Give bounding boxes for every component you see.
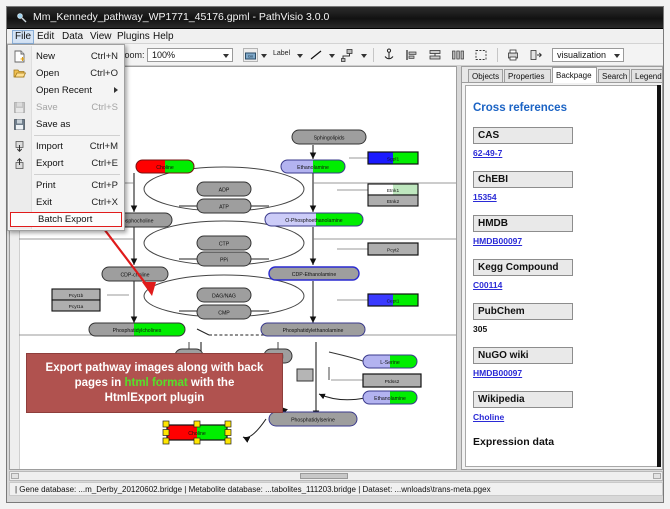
import-icon — [13, 140, 26, 153]
menu-separator-2 — [34, 174, 120, 175]
side-panel-tabs: Objects Properties Backpage Search Legen… — [462, 67, 662, 83]
callout-line2-a: pages in — [75, 377, 125, 389]
expression-data-heading: Expression data — [473, 436, 653, 448]
svg-text:Phosphatidylserine: Phosphatidylserine — [291, 418, 335, 424]
svg-text:Cept1: Cept1 — [387, 299, 400, 305]
svg-text:O-Phosphoethanolamine: O-Phosphoethanolamine — [285, 218, 343, 224]
pathvisio-icon — [16, 12, 28, 24]
svg-text:Choline: Choline — [156, 165, 174, 171]
distribute-icon[interactable] — [451, 48, 465, 62]
datanode-dropdown-arrow[interactable] — [261, 54, 267, 58]
interaction-icon[interactable] — [341, 48, 355, 62]
label-tool-label[interactable]: Label — [273, 50, 290, 57]
properties-icon[interactable] — [529, 48, 543, 62]
new-document-icon — [13, 50, 26, 63]
xref-value-pubchem: 305 — [473, 324, 653, 334]
svg-text:DAG/NAG: DAG/NAG — [212, 294, 236, 300]
menu-item-new-accel: Ctrl+N — [91, 48, 118, 65]
menu-view[interactable]: View — [87, 31, 115, 43]
xref-label-chebi: ChEBI — [473, 171, 573, 188]
svg-text:CTP: CTP — [219, 242, 230, 248]
menu-item-import-accel: Ctrl+M — [90, 138, 118, 155]
tab-backpage[interactable]: Backpage — [552, 67, 597, 83]
tab-properties[interactable]: Properties — [504, 69, 551, 82]
interaction-dropdown-arrow[interactable] — [361, 54, 367, 58]
svg-text:Ethanolamine: Ethanolamine — [297, 165, 329, 171]
visualization-value: visualization — [557, 50, 606, 60]
chevron-right-icon — [114, 87, 118, 93]
xref-label-nugo-wiki: NuGO wiki — [473, 347, 573, 364]
menu-item-export[interactable]: Export Ctrl+E — [8, 155, 124, 172]
xref-value-nugo-wiki[interactable]: HMDB00097 — [473, 368, 653, 378]
svg-text:Ethanolamine: Ethanolamine — [374, 396, 406, 402]
callout-line1: Export pathway images along with back — [46, 362, 264, 374]
svg-text:CDP-Ethanolamine: CDP-Ethanolamine — [292, 272, 337, 278]
menu-item-save-accel: Ctrl+S — [91, 99, 118, 116]
visualization-combo[interactable]: visualization — [552, 48, 624, 62]
menu-edit[interactable]: Edit — [34, 31, 57, 43]
group-icon[interactable] — [474, 48, 488, 62]
menu-item-exit[interactable]: Exit Ctrl+X — [8, 194, 124, 211]
print-icon[interactable] — [506, 48, 520, 62]
status-text: | Gene database: ...m_Derby_20120602.bri… — [15, 485, 491, 494]
svg-text:Phosphatidylcholines: Phosphatidylcholines — [113, 328, 162, 334]
menu-item-open[interactable]: Open Ctrl+O — [8, 65, 124, 82]
svg-text:Etnk1: Etnk1 — [387, 188, 400, 194]
svg-text:L-Serine: L-Serine — [380, 360, 400, 366]
title-bar: Mm_Kennedy_pathway_WP1771_45176.gpml - P… — [7, 7, 663, 29]
xref-label-kegg-compound: Kegg Compound — [473, 259, 573, 276]
menu-bar: File Edit Data View Plugins Help — [7, 29, 663, 44]
menu-item-save: Save Ctrl+S — [8, 99, 124, 116]
menu-item-save-as-label: Save as — [36, 116, 70, 133]
menu-item-import[interactable]: Import Ctrl+M — [8, 138, 124, 155]
callout-highlight: html format — [124, 377, 187, 389]
svg-text:Pcyt1b: Pcyt1b — [69, 293, 84, 299]
side-panel-scrollbar[interactable] — [657, 85, 661, 467]
xref-label-cas: CAS — [473, 127, 573, 144]
menu-item-open-recent[interactable]: Open Recent — [8, 82, 124, 99]
window-title: Mm_Kennedy_pathway_WP1771_45176.gpml - P… — [33, 11, 329, 23]
menu-item-export-accel: Ctrl+E — [91, 155, 118, 172]
tab-objects[interactable]: Objects — [468, 69, 503, 82]
status-bar: | Gene database: ...m_Derby_20120602.bri… — [9, 482, 663, 496]
svg-text:ATP: ATP — [219, 205, 229, 211]
xref-label-hmdb: HMDB — [473, 215, 573, 232]
svg-text:CMP: CMP — [218, 311, 230, 317]
xref-label-pubchem: PubChem — [473, 303, 573, 320]
xref-value-kegg-compound[interactable]: C00114 — [473, 280, 653, 290]
anchor-icon[interactable] — [382, 48, 396, 62]
svg-text:CDP-choline: CDP-choline — [120, 273, 149, 279]
menu-item-print[interactable]: Print Ctrl+P — [8, 177, 124, 194]
svg-text:Choline: Choline — [188, 431, 206, 437]
menu-item-exit-label: Exit — [36, 194, 52, 211]
datanode-icon: Gn — [244, 50, 257, 62]
menu-item-exit-accel: Ctrl+X — [91, 194, 118, 211]
callout-line2-b: with the — [188, 377, 235, 389]
cross-references-heading: Cross references — [473, 102, 653, 114]
svg-text:Sgpl1: Sgpl1 — [387, 157, 400, 163]
menu-plugins[interactable]: Plugins — [114, 31, 153, 43]
tab-legend[interactable]: Legend — [631, 69, 663, 82]
label-dropdown-arrow[interactable] — [297, 54, 303, 58]
zoom-value: 100% — [152, 50, 175, 60]
menu-item-new[interactable]: New Ctrl+N — [8, 48, 124, 65]
svg-text:Gn: Gn — [248, 54, 253, 59]
menu-item-print-label: Print — [36, 177, 56, 194]
toolbar-separator-2 — [497, 48, 498, 62]
backpage-scroll-area[interactable]: Cross references CAS 62-49-7 ChEBI 15354… — [465, 85, 658, 467]
xref-value-chebi[interactable]: 15354 — [473, 192, 653, 202]
svg-text:Sphingolipids: Sphingolipids — [314, 136, 345, 142]
svg-text:Pcyt1a: Pcyt1a — [69, 304, 84, 310]
svg-text:Phosphatidylethanolamine: Phosphatidylethanolamine — [283, 328, 344, 334]
xref-label-wikipedia: Wikipedia — [473, 391, 573, 408]
menu-data[interactable]: Data — [59, 31, 86, 43]
chevron-down-icon-2 — [614, 54, 620, 58]
menu-item-save-label: Save — [36, 99, 58, 116]
scroll-thumb[interactable] — [300, 473, 348, 479]
side-panel: Objects Properties Backpage Search Legen… — [461, 66, 663, 470]
datanode-button[interactable]: Gn — [243, 48, 258, 62]
file-menu-dropdown[interactable]: New Ctrl+N Open Ctrl+O Open Recent Save … — [7, 44, 125, 231]
toolbar-separator — [373, 48, 374, 62]
svg-text:ADP: ADP — [219, 188, 230, 194]
menu-item-batch-export-label: Batch Export — [38, 212, 92, 227]
xref-value-wikipedia[interactable]: Choline — [473, 412, 653, 422]
horizontal-scrollbar[interactable] — [9, 471, 663, 481]
align-left-icon[interactable] — [405, 48, 419, 62]
line-icon[interactable] — [309, 48, 323, 62]
chevron-down-icon — [223, 54, 229, 58]
backpage-content: Cross references CAS 62-49-7 ChEBI 15354… — [473, 86, 653, 448]
zoom-combo[interactable]: 100% — [147, 48, 233, 62]
menu-item-batch-export[interactable]: Batch Export — [10, 212, 122, 227]
scroll-left-icon[interactable] — [11, 473, 19, 479]
tab-search[interactable]: Search — [598, 69, 630, 82]
svg-text:Pcyt2: Pcyt2 — [387, 248, 399, 254]
annotation-callout: Export pathway images along with back pa… — [26, 353, 283, 413]
menu-item-import-label: Import — [36, 138, 63, 155]
svg-text:PPi: PPi — [220, 258, 228, 264]
menu-item-new-label: New — [36, 48, 55, 65]
menu-file[interactable]: File — [12, 30, 34, 44]
menu-separator-1 — [34, 135, 120, 136]
save-as-icon — [13, 118, 26, 131]
xref-value-hmdb[interactable]: HMDB00097 — [473, 236, 653, 246]
save-icon — [13, 101, 26, 114]
menu-help[interactable]: Help — [150, 31, 177, 43]
menu-item-open-recent-label: Open Recent — [36, 82, 92, 99]
svg-text:Etnk2: Etnk2 — [387, 199, 400, 205]
svg-text:Ptdss2: Ptdss2 — [385, 379, 400, 385]
callout-line3: HtmlExport plugin — [105, 392, 205, 404]
menu-item-open-label: Open — [36, 65, 59, 82]
folder-open-icon — [13, 67, 26, 80]
stack-icon[interactable] — [428, 48, 442, 62]
export-icon — [13, 157, 26, 170]
scroll-right-icon[interactable] — [653, 473, 661, 479]
app-window: Mm_Kennedy_pathway_WP1771_45176.gpml - P… — [0, 0, 670, 509]
menu-item-open-accel: Ctrl+O — [90, 65, 118, 82]
annotation-text: Export pathway images along with back pa… — [40, 361, 270, 406]
line-dropdown-arrow[interactable] — [329, 54, 335, 58]
menu-item-print-accel: Ctrl+P — [91, 177, 118, 194]
xref-value-cas[interactable]: 62-49-7 — [473, 148, 653, 158]
selected-node: Choline — [163, 421, 231, 444]
menu-item-export-label: Export — [36, 155, 63, 172]
menu-item-save-as[interactable]: Save as — [8, 116, 124, 133]
